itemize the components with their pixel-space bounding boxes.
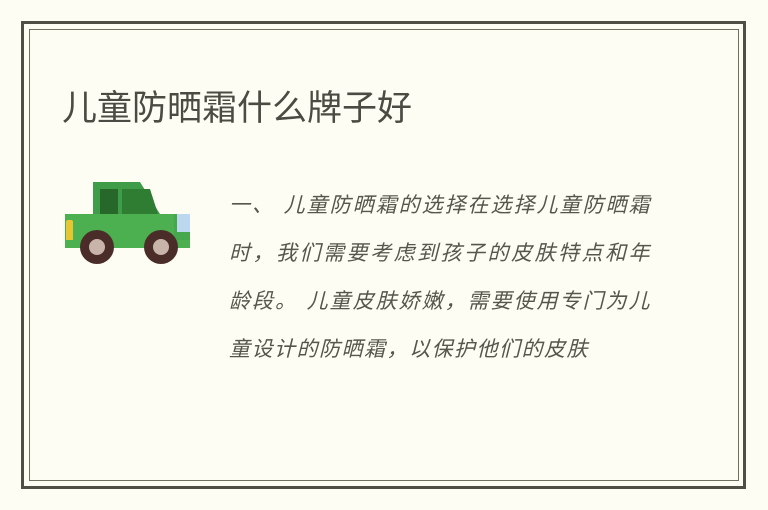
article-body-paragraph: 一、 儿童防晒霜的选择在选择儿童防晒霜时，我们需要考虑到孩子的皮肤特点和年龄段。… (229, 181, 651, 373)
page-canvas: 儿童防晒霜什么牌子好 (0, 0, 768, 510)
page-title: 儿童防晒霜什么牌子好 (62, 87, 412, 131)
truck-illustration-svg (62, 170, 207, 270)
content-row: 一、 儿童防晒霜的选择在选择儿童防晒霜时，我们需要考虑到孩子的皮肤特点和年龄段。… (62, 160, 662, 410)
green-pickup-truck-icon (62, 170, 207, 270)
